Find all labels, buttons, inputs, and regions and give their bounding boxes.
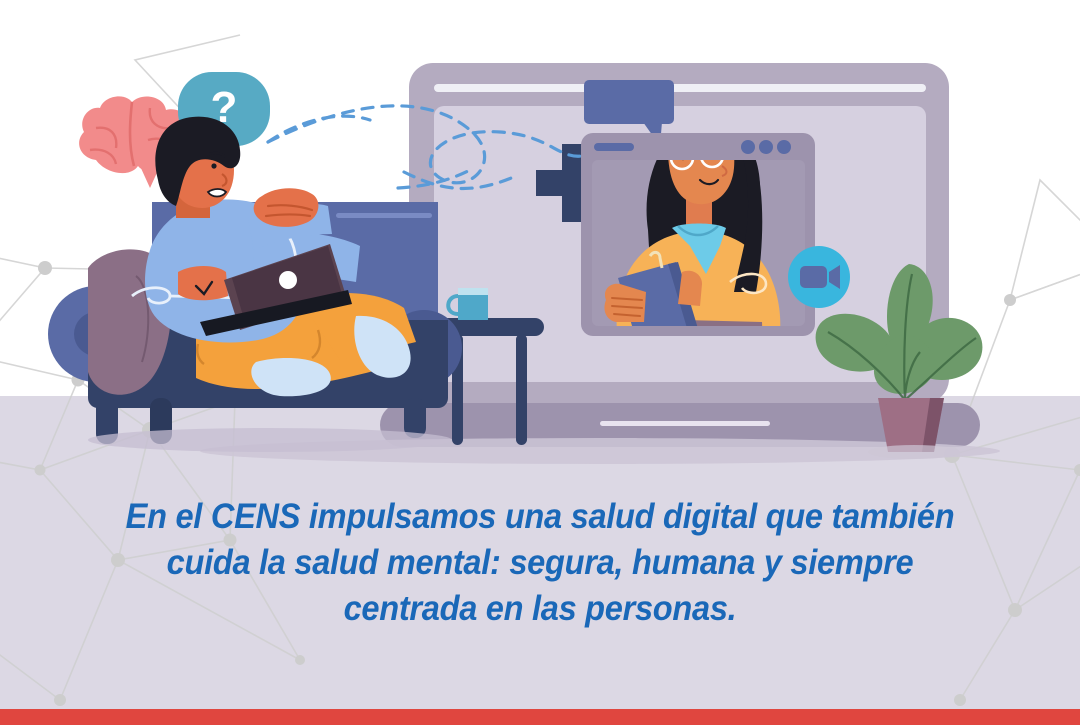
mug-rim — [458, 288, 488, 295]
couch-leg-right — [404, 398, 426, 438]
laptop-trackpad-line — [600, 421, 770, 426]
caption-text: En el CENS impulsamos una salud digital … — [94, 494, 987, 632]
patient-hand-typing — [178, 266, 228, 300]
video-call-window — [581, 112, 815, 372]
video-camera-icon — [788, 246, 850, 308]
couch-backrest-line — [336, 213, 432, 218]
patient-eye — [211, 163, 216, 168]
bottom-red-bar — [0, 709, 1080, 725]
therapist-hand-2 — [678, 271, 702, 306]
window-dot-3 — [777, 140, 791, 154]
plant-shadow — [868, 445, 960, 459]
couch-shadow — [88, 428, 452, 452]
window-dot-1 — [741, 140, 755, 154]
window-dot-2 — [759, 140, 773, 154]
small-laptop-logo — [279, 271, 297, 289]
laptop-top-highlight — [434, 84, 926, 92]
poster-canvas: ? — [0, 0, 1080, 725]
patient-mouth — [208, 189, 226, 197]
table-leg-right — [516, 334, 527, 445]
window-title-pill — [594, 143, 634, 151]
patient-hand-raised — [254, 188, 319, 227]
